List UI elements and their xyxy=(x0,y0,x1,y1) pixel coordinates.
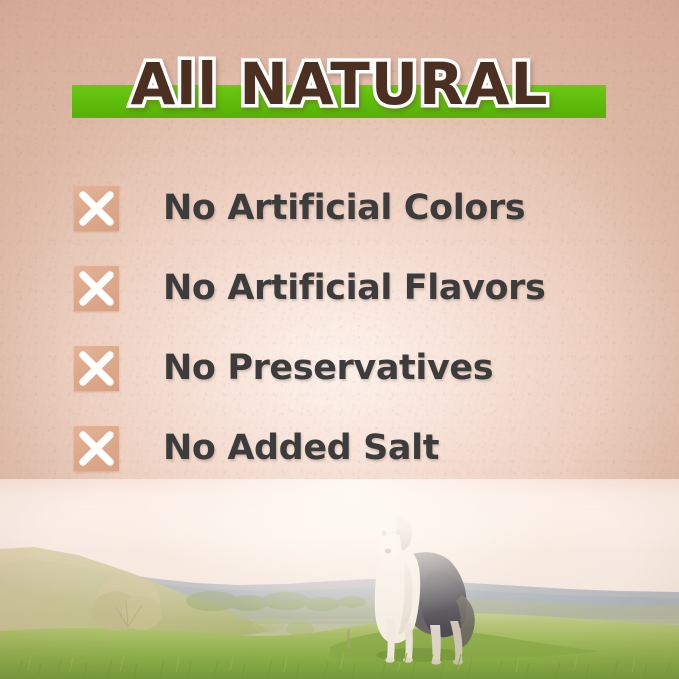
x-mark-icon xyxy=(74,426,119,471)
list-item: No Preservatives xyxy=(0,328,679,408)
all-natural-product-poster: All NATURAL No Artificial Colors xyxy=(0,0,679,679)
x-mark-icon xyxy=(74,346,119,391)
x-mark-icon xyxy=(74,266,119,311)
feature-list: No Artificial Colors No Artificial Flavo… xyxy=(0,168,679,488)
x-mark-icon xyxy=(74,186,119,231)
list-item-label: No Preservatives xyxy=(163,348,493,388)
headline-banner: All NATURAL xyxy=(0,48,679,134)
list-item: No Artificial Colors xyxy=(0,168,679,248)
list-item-label: No Artificial Flavors xyxy=(163,268,545,308)
list-item: No Added Salt xyxy=(0,408,679,488)
list-item-label: No Artificial Colors xyxy=(163,188,525,228)
list-item-label: No Added Salt xyxy=(163,428,439,468)
page-title: All NATURAL xyxy=(0,48,679,120)
list-item: No Artificial Flavors xyxy=(0,248,679,328)
dog-in-field-photo xyxy=(0,479,679,679)
